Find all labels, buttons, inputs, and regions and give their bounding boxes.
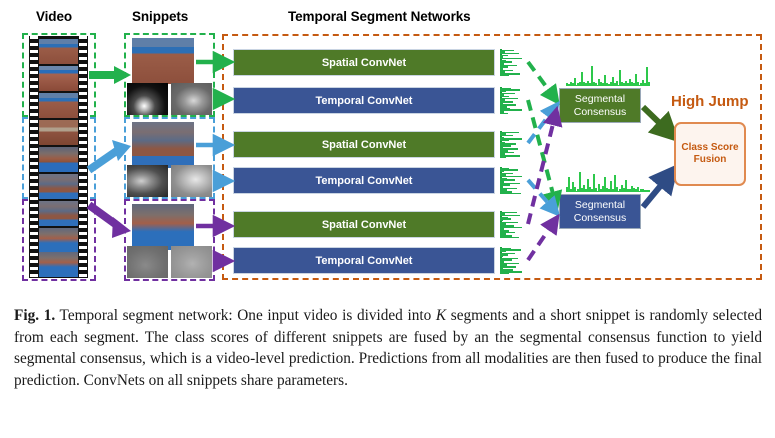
filmstrip-frame [39, 93, 78, 118]
spatial-convnet-2[interactable]: Spatial ConvNet [233, 131, 495, 158]
filmstrip-frame [39, 147, 78, 172]
snippet-rgb-frame-3 [132, 204, 194, 250]
temporal-convnet-label: Temporal ConvNet [316, 95, 413, 107]
temporal-convnet-label: Temporal ConvNet [316, 175, 413, 187]
spatial-convnet-1[interactable]: Spatial ConvNet [233, 49, 495, 76]
spatial-convnet-label: Spatial ConvNet [322, 57, 406, 69]
filmstrip-sprocket-left [30, 36, 38, 278]
spike-plot-temporal-3 [500, 247, 524, 274]
spike-plot-temporal-2 [500, 167, 524, 194]
spatial-consensus-histogram [566, 66, 650, 86]
temporal-convnet-1[interactable]: Temporal ConvNet [233, 87, 495, 114]
filmstrip-frame [39, 228, 78, 253]
segmental-consensus-temporal[interactable]: Segmental Consensus [559, 194, 641, 229]
class-score-fusion-box[interactable]: Class Score Fusion [674, 122, 746, 186]
video-filmstrip [29, 36, 88, 278]
spatial-convnet-label: Spatial ConvNet [322, 219, 406, 231]
filmstrip-frame [39, 252, 78, 277]
consensus-label-line1: Segmental [575, 93, 625, 106]
temporal-convnet-2[interactable]: Temporal ConvNet [233, 167, 495, 194]
figure-diagram: Spatial ConvNet Temporal ConvNet Spatial… [0, 0, 775, 285]
snippet-rgb-frame-2 [132, 122, 194, 168]
filmstrip-frame [39, 174, 78, 199]
snippet-rgb-frame-1 [132, 38, 194, 84]
snippet-flow-frame-2a [127, 165, 168, 197]
snippet-flow-frame-1b [171, 83, 212, 115]
snippet-flow-frame-2b [171, 165, 212, 197]
temporal-convnet-label: Temporal ConvNet [316, 255, 413, 267]
spatial-convnet-label: Spatial ConvNet [322, 139, 406, 151]
caption-italic-k: K [436, 307, 446, 324]
prediction-label: High Jump [671, 93, 749, 110]
filmstrip-frame [39, 201, 78, 226]
caption-text-part1: Temporal segment network: One input vide… [55, 307, 436, 324]
filmstrip-sprocket-right [79, 36, 87, 278]
spike-plot-spatial-3 [500, 211, 524, 238]
snippet-flow-frame-1a [127, 83, 168, 115]
figure-caption: Fig. 1. Temporal segment network: One in… [14, 305, 762, 391]
fusion-label-line2: Fusion [694, 154, 727, 167]
snippet-flow-frame-3b [171, 246, 212, 278]
consensus-label-line2: Consensus [574, 106, 627, 119]
filmstrip-frame [39, 39, 78, 64]
segmental-consensus-spatial[interactable]: Segmental Consensus [559, 88, 641, 123]
filmstrip-frame [39, 120, 78, 145]
snippet-flow-frame-3a [127, 246, 168, 278]
temporal-convnet-3[interactable]: Temporal ConvNet [233, 247, 495, 274]
consensus-label-line2: Consensus [574, 212, 627, 225]
spike-plot-spatial-1 [500, 49, 524, 76]
spike-plot-spatial-2 [500, 131, 524, 158]
caption-figure-number: Fig. 1. [14, 307, 55, 324]
temporal-consensus-histogram [566, 172, 650, 192]
consensus-label-line1: Segmental [575, 199, 625, 212]
spatial-convnet-3[interactable]: Spatial ConvNet [233, 211, 495, 238]
filmstrip-frame [39, 66, 78, 91]
fusion-label-line1: Class Score [681, 142, 738, 155]
spike-plot-temporal-1 [500, 87, 524, 114]
